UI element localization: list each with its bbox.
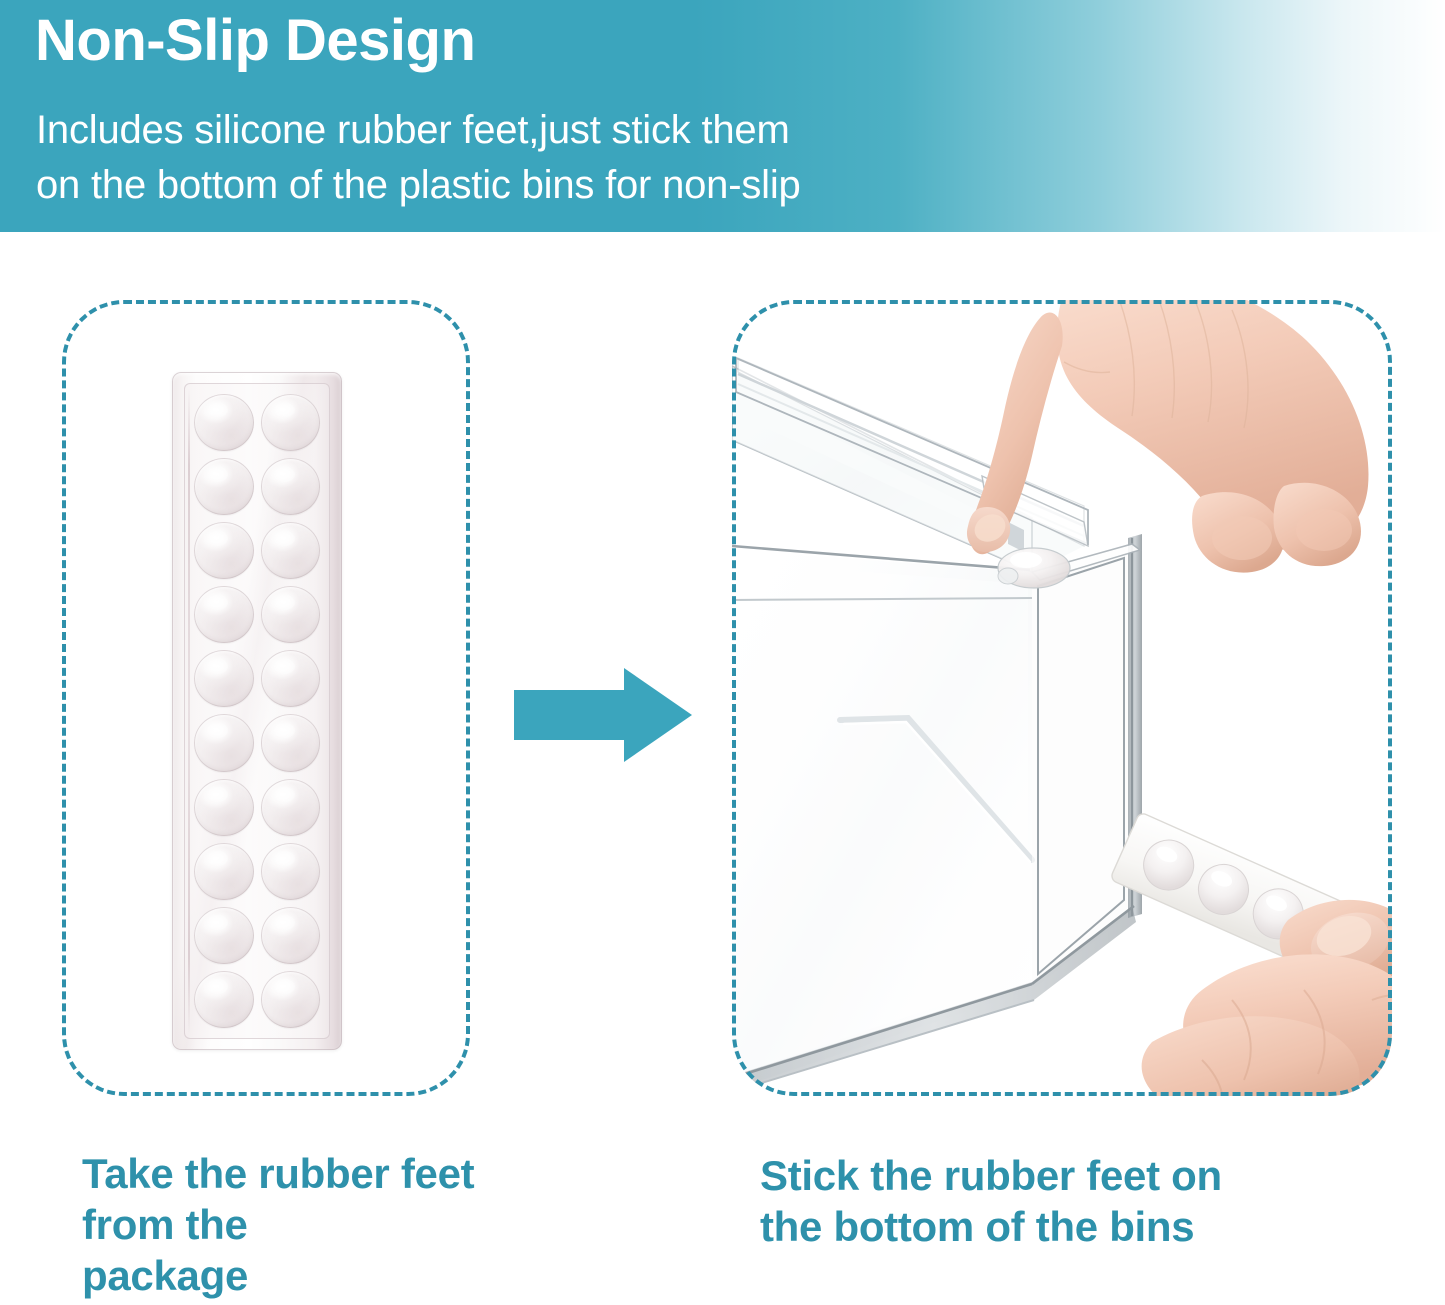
caption-take-feet: Take the rubber feet from the package — [82, 1148, 502, 1302]
blister-strip-body — [172, 372, 342, 1050]
rubber-foot — [194, 907, 254, 964]
rubber-foot — [194, 971, 254, 1028]
rubber-foot — [194, 714, 254, 771]
rubber-foot — [194, 779, 254, 836]
header-banner: Non-Slip Design Includes silicone rubber… — [0, 0, 1445, 232]
rubber-foot — [194, 394, 254, 451]
rubber-foot — [194, 843, 254, 900]
rubber-foot — [261, 843, 321, 900]
step-panel-stick-feet — [732, 300, 1392, 1096]
rubber-foot — [194, 650, 254, 707]
silicone-feet-blister-strip — [172, 372, 342, 1050]
caption-stick-feet: Stick the rubber feet on the bottom of t… — [760, 1150, 1390, 1252]
right-arrow-icon — [508, 662, 698, 768]
rubber-feet-grid — [190, 390, 324, 1032]
rubber-foot — [261, 714, 321, 771]
rubber-foot — [261, 650, 321, 707]
rubber-foot — [261, 586, 321, 643]
rubber-foot — [261, 907, 321, 964]
header-subtitle: Includes silicone rubber feet,just stick… — [36, 103, 801, 213]
page-title: Non-Slip Design — [35, 8, 475, 75]
rubber-foot — [261, 458, 321, 515]
rubber-foot — [261, 394, 321, 451]
rubber-foot — [194, 586, 254, 643]
rubber-foot — [261, 971, 321, 1028]
rubber-foot — [194, 522, 254, 579]
rubber-foot — [261, 522, 321, 579]
rubber-foot — [194, 458, 254, 515]
rubber-foot — [261, 779, 321, 836]
